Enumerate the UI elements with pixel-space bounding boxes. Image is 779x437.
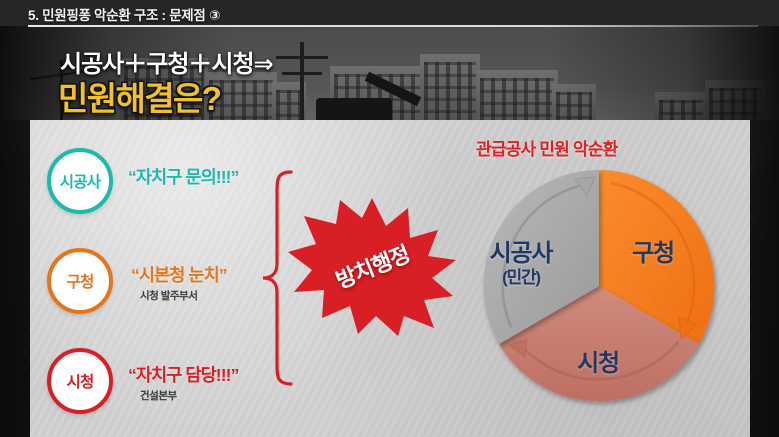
sub-text-sicheong: 건설본부 bbox=[140, 388, 177, 403]
badge-circle-sicheong: 시청 bbox=[47, 348, 113, 414]
badge-label: 구청 bbox=[67, 270, 94, 292]
badge-label: 시공사 bbox=[60, 170, 100, 192]
badge-circle-sigongsa: 시공사 bbox=[47, 148, 113, 214]
quote-text-sigongsa: “자치구 문의!!!” bbox=[128, 164, 238, 189]
sub-text-gucheong: 시청 발주부서 bbox=[140, 288, 197, 303]
badge-circle-gucheong: 구청 bbox=[47, 248, 113, 314]
pie-label-sicheong: 시청 bbox=[543, 343, 653, 378]
quote-text-gucheong: “시본청 눈치” bbox=[131, 262, 227, 287]
pie-label-gucheong: 구청 bbox=[605, 233, 701, 268]
cycle-chart: 시공사 (민간) 구청 시청 bbox=[465, 155, 735, 417]
quote-text-sicheong: “자치구 담당!!!” bbox=[128, 362, 238, 387]
starburst-badge: 방치행정 bbox=[288, 196, 456, 336]
header-divider bbox=[28, 25, 758, 27]
pie-sublabel-sigongsa: (민간) bbox=[463, 263, 579, 288]
headline-line-2: 민원해결은? bbox=[58, 72, 220, 120]
page-title: 5. 민원핑퐁 악순환 구조 : 문제점 ③ bbox=[28, 4, 220, 24]
badge-label: 시청 bbox=[67, 370, 94, 392]
